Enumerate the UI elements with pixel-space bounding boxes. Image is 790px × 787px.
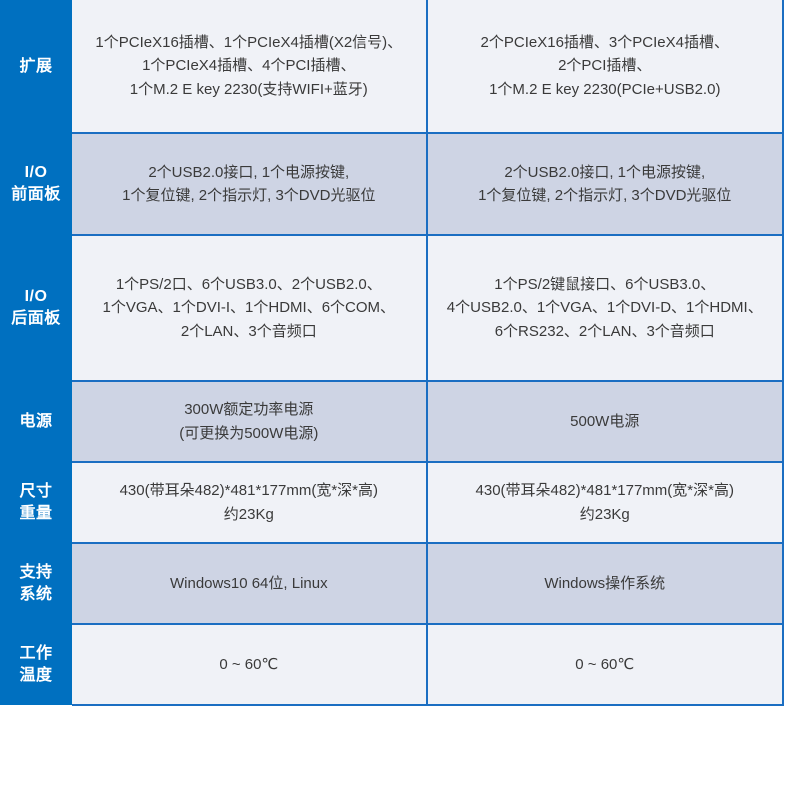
row-label-dimensions-weight: 尺寸 重量 (0, 462, 72, 543)
page-bottom-whitespace (0, 706, 790, 780)
table-row: 电源 300W额定功率电源 (可更换为500W电源) 500W电源 (0, 381, 783, 462)
cell-io-rear-model-b: 1个PS/2键鼠接口、6个USB3.0、 4个USB2.0、1个VGA、1个DV… (427, 235, 783, 381)
cell-io-rear-model-a: 1个PS/2口、6个USB3.0、2个USB2.0、 1个VGA、1个DVI-I… (72, 235, 426, 381)
row-label-power-supply: 电源 (0, 381, 72, 462)
cell-io-front-model-b: 2个USB2.0接口, 1个电源按键, 1个复位键, 2个指示灯, 3个DVD光… (427, 133, 783, 235)
table-row: I/O 后面板 1个PS/2口、6个USB3.0、2个USB2.0、 1个VGA… (0, 235, 783, 381)
cell-power-model-a: 300W额定功率电源 (可更换为500W电源) (72, 381, 426, 462)
row-label-io-front-panel: I/O 前面板 (0, 133, 72, 235)
cell-temperature-model-b: 0 ~ 60℃ (427, 624, 783, 705)
cell-expansion-model-b: 2个PCIeX16插槽、3个PCIeX4插槽、 2个PCI插槽、 1个M.2 E… (427, 0, 783, 133)
cell-os-model-b: Windows操作系统 (427, 543, 783, 624)
cell-io-front-model-a: 2个USB2.0接口, 1个电源按键, 1个复位键, 2个指示灯, 3个DVD光… (72, 133, 426, 235)
row-label-expansion: 扩展 (0, 0, 72, 133)
table-row: 扩展 1个PCIeX16插槽、1个PCIeX4插槽(X2信号)、 1个PCIeX… (0, 0, 783, 133)
cell-dimensions-model-a: 430(带耳朵482)*481*177mm(宽*深*高) 约23Kg (72, 462, 426, 543)
table-row: 尺寸 重量 430(带耳朵482)*481*177mm(宽*深*高) 约23Kg… (0, 462, 783, 543)
cell-dimensions-model-b: 430(带耳朵482)*481*177mm(宽*深*高) 约23Kg (427, 462, 783, 543)
cell-power-model-b: 500W电源 (427, 381, 783, 462)
spec-comparison-table: 扩展 1个PCIeX16插槽、1个PCIeX4插槽(X2信号)、 1个PCIeX… (0, 0, 784, 706)
table-row: 工作 温度 0 ~ 60℃ 0 ~ 60℃ (0, 624, 783, 705)
row-label-operating-temperature: 工作 温度 (0, 624, 72, 705)
cell-temperature-model-a: 0 ~ 60℃ (72, 624, 426, 705)
row-label-io-rear-panel: I/O 后面板 (0, 235, 72, 381)
cell-expansion-model-a: 1个PCIeX16插槽、1个PCIeX4插槽(X2信号)、 1个PCIeX4插槽… (72, 0, 426, 133)
table-row: I/O 前面板 2个USB2.0接口, 1个电源按键, 1个复位键, 2个指示灯… (0, 133, 783, 235)
cell-os-model-a: Windows10 64位, Linux (72, 543, 426, 624)
row-label-supported-os: 支持 系统 (0, 543, 72, 624)
spec-table-body: 扩展 1个PCIeX16插槽、1个PCIeX4插槽(X2信号)、 1个PCIeX… (0, 0, 783, 705)
table-row: 支持 系统 Windows10 64位, Linux Windows操作系统 (0, 543, 783, 624)
